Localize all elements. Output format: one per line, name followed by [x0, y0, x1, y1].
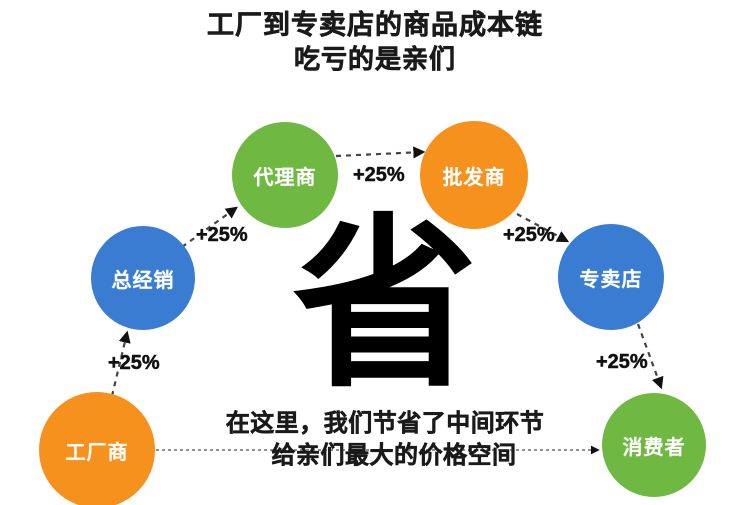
node-store[interactable]: 专卖店 [558, 224, 664, 330]
node-consumer[interactable]: 消费者 [602, 393, 706, 497]
node-store-label: 专卖店 [580, 263, 643, 292]
edge-label-distributor-to-agent: +25% [196, 224, 248, 247]
edge-label-wholesaler-to-store: +25% [503, 224, 555, 247]
node-consumer-label: 消费者 [623, 431, 686, 460]
center-glyph-save: 省 [300, 215, 470, 395]
edge-agent-to-wholesaler [336, 152, 423, 156]
node-distributor[interactable]: 总经销 [91, 226, 195, 330]
edge-label-agent-to-wholesaler: +25% [353, 164, 405, 187]
node-wholesaler-label: 批发商 [443, 161, 506, 190]
node-factory[interactable]: 工厂商 [39, 392, 155, 505]
node-distributor-label: 总经销 [112, 264, 175, 293]
node-wholesaler[interactable]: 批发商 [420, 121, 528, 229]
infographic-canvas: 工厂到专卖店的商品成本链 吃亏的是亲们 省 工厂商 总经销 代理商 [0, 0, 750, 505]
edge-label-factory-to-distributor: +25% [108, 352, 160, 375]
node-factory-label: 工厂商 [66, 436, 129, 465]
node-agent[interactable]: 代理商 [232, 122, 338, 228]
node-agent-label: 代理商 [254, 161, 317, 190]
edge-label-store-to-consumer: +25% [596, 351, 648, 374]
